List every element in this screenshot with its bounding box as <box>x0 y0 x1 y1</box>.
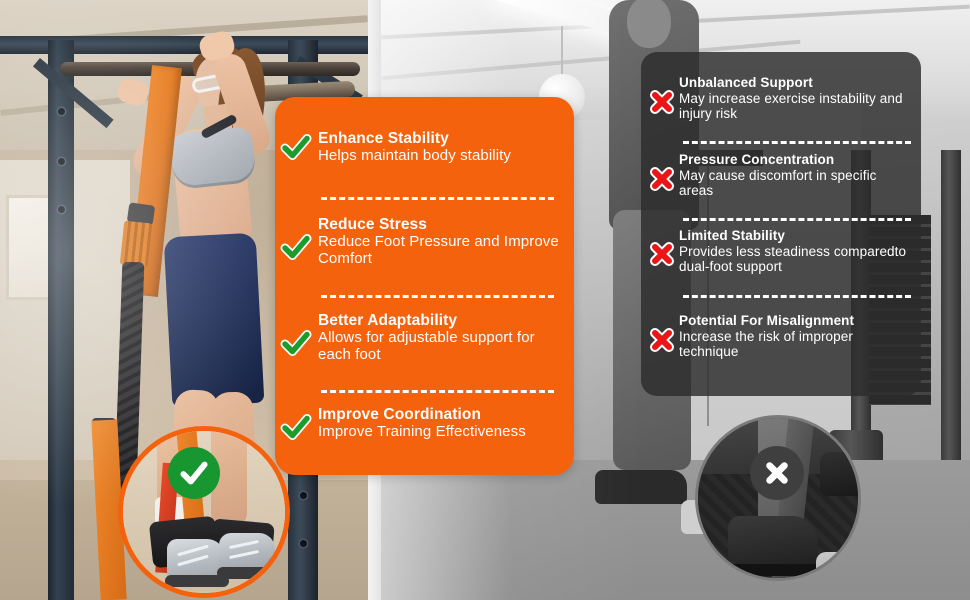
red-x-icon <box>649 89 675 115</box>
good-example-inset <box>118 426 290 598</box>
pros-item-desc: Improve Training Effectiveness <box>318 424 569 441</box>
rack-post <box>48 40 74 600</box>
shoe <box>816 552 861 581</box>
cons-divider <box>683 218 911 221</box>
pros-item-text: Enhance Stability Helps maintain body st… <box>318 131 569 165</box>
shoe-sole <box>724 564 822 576</box>
pros-item-title: Enhance Stability <box>318 131 569 148</box>
pros-item: Reduce Stress Reduce Foot Pressure and I… <box>280 217 569 267</box>
red-x-icon <box>649 327 675 353</box>
cons-list: Unbalanced Support May increase exercise… <box>641 52 921 396</box>
pros-item-text: Better Adaptability Allows for adjustabl… <box>318 313 569 363</box>
strap-fray <box>120 221 152 268</box>
cons-item-desc: Increase the risk of improper technique <box>679 329 879 359</box>
rack-hole <box>58 158 65 165</box>
cons-item-text: Potential For Misalignment Increase the … <box>679 314 921 359</box>
athlete-shoe <box>595 470 687 504</box>
bad-example-inset <box>695 415 861 581</box>
cons-item-title: Potential For Misalignment <box>679 314 921 329</box>
ball-cord <box>561 26 563 76</box>
cons-item-text: Unbalanced Support May increase exercise… <box>679 76 921 121</box>
athlete-head <box>627 0 671 48</box>
athlete-sports-bra <box>169 126 256 190</box>
cons-item-desc: May increase exercise instability and in… <box>679 91 911 121</box>
check-glyph <box>177 456 211 490</box>
cons-item-desc: May cause discomfort in specific areas <box>679 168 899 198</box>
red-x-icon <box>649 241 675 267</box>
green-check-badge <box>168 447 220 499</box>
pros-list: Enhance Stability Helps maintain body st… <box>275 97 574 475</box>
pros-panel: Enhance Stability Helps maintain body st… <box>275 97 574 475</box>
shoe <box>820 452 861 496</box>
pros-item-desc: Helps maintain body stability <box>318 148 569 165</box>
green-check-icon <box>280 131 312 163</box>
pros-item: Better Adaptability Allows for adjustabl… <box>280 313 569 363</box>
pros-divider <box>321 390 554 393</box>
pros-item-title: Improve Coordination <box>318 407 569 424</box>
cons-item-title: Unbalanced Support <box>679 76 921 91</box>
red-x-icon <box>649 166 675 192</box>
x-glyph <box>761 457 793 489</box>
pros-item-title: Reduce Stress <box>318 217 569 234</box>
pros-item-text: Reduce Stress Reduce Foot Pressure and I… <box>318 217 569 267</box>
pros-divider <box>321 295 554 298</box>
gym-machine-post <box>941 150 961 480</box>
pros-item-desc: Allows for adjustable support for each f… <box>318 330 566 364</box>
cons-item-title: Limited Stability <box>679 229 921 244</box>
athlete-shorts <box>164 233 265 408</box>
cons-item-text: Limited Stability Provides less steadine… <box>679 229 921 274</box>
pros-item-desc: Reduce Foot Pressure and Improve Comfort <box>318 234 566 268</box>
infographic-canvas: Enhance Stability Helps maintain body st… <box>0 0 970 600</box>
cons-item-title: Pressure Concentration <box>679 153 921 168</box>
rack-hole <box>58 206 65 213</box>
pros-item: Improve Coordination Improve Training Ef… <box>280 407 569 443</box>
rack-hole <box>58 108 65 115</box>
cons-item-text: Pressure Concentration May cause discomf… <box>679 153 921 198</box>
rack-hole <box>300 492 307 499</box>
cons-item: Limited Stability Provides less steadine… <box>649 229 921 274</box>
cons-divider <box>683 141 911 144</box>
pros-divider <box>321 197 554 200</box>
cons-divider <box>683 295 911 298</box>
green-check-icon <box>280 327 312 359</box>
cons-item: Unbalanced Support May increase exercise… <box>649 76 921 121</box>
shoe-sole <box>217 567 279 579</box>
green-check-icon <box>280 231 312 263</box>
pros-item-text: Improve Coordination Improve Training Ef… <box>318 407 569 441</box>
pros-item: Enhance Stability Helps maintain body st… <box>280 131 569 165</box>
rack-hole <box>300 540 307 547</box>
red-x-badge <box>750 446 804 500</box>
cons-panel: Unbalanced Support May increase exercise… <box>641 52 921 396</box>
cons-item: Potential For Misalignment Increase the … <box>649 314 921 359</box>
pros-item-title: Better Adaptability <box>318 313 569 330</box>
cons-item: Pressure Concentration May cause discomf… <box>649 153 921 198</box>
cons-item-desc: Provides less steadiness comparedto dual… <box>679 244 917 274</box>
